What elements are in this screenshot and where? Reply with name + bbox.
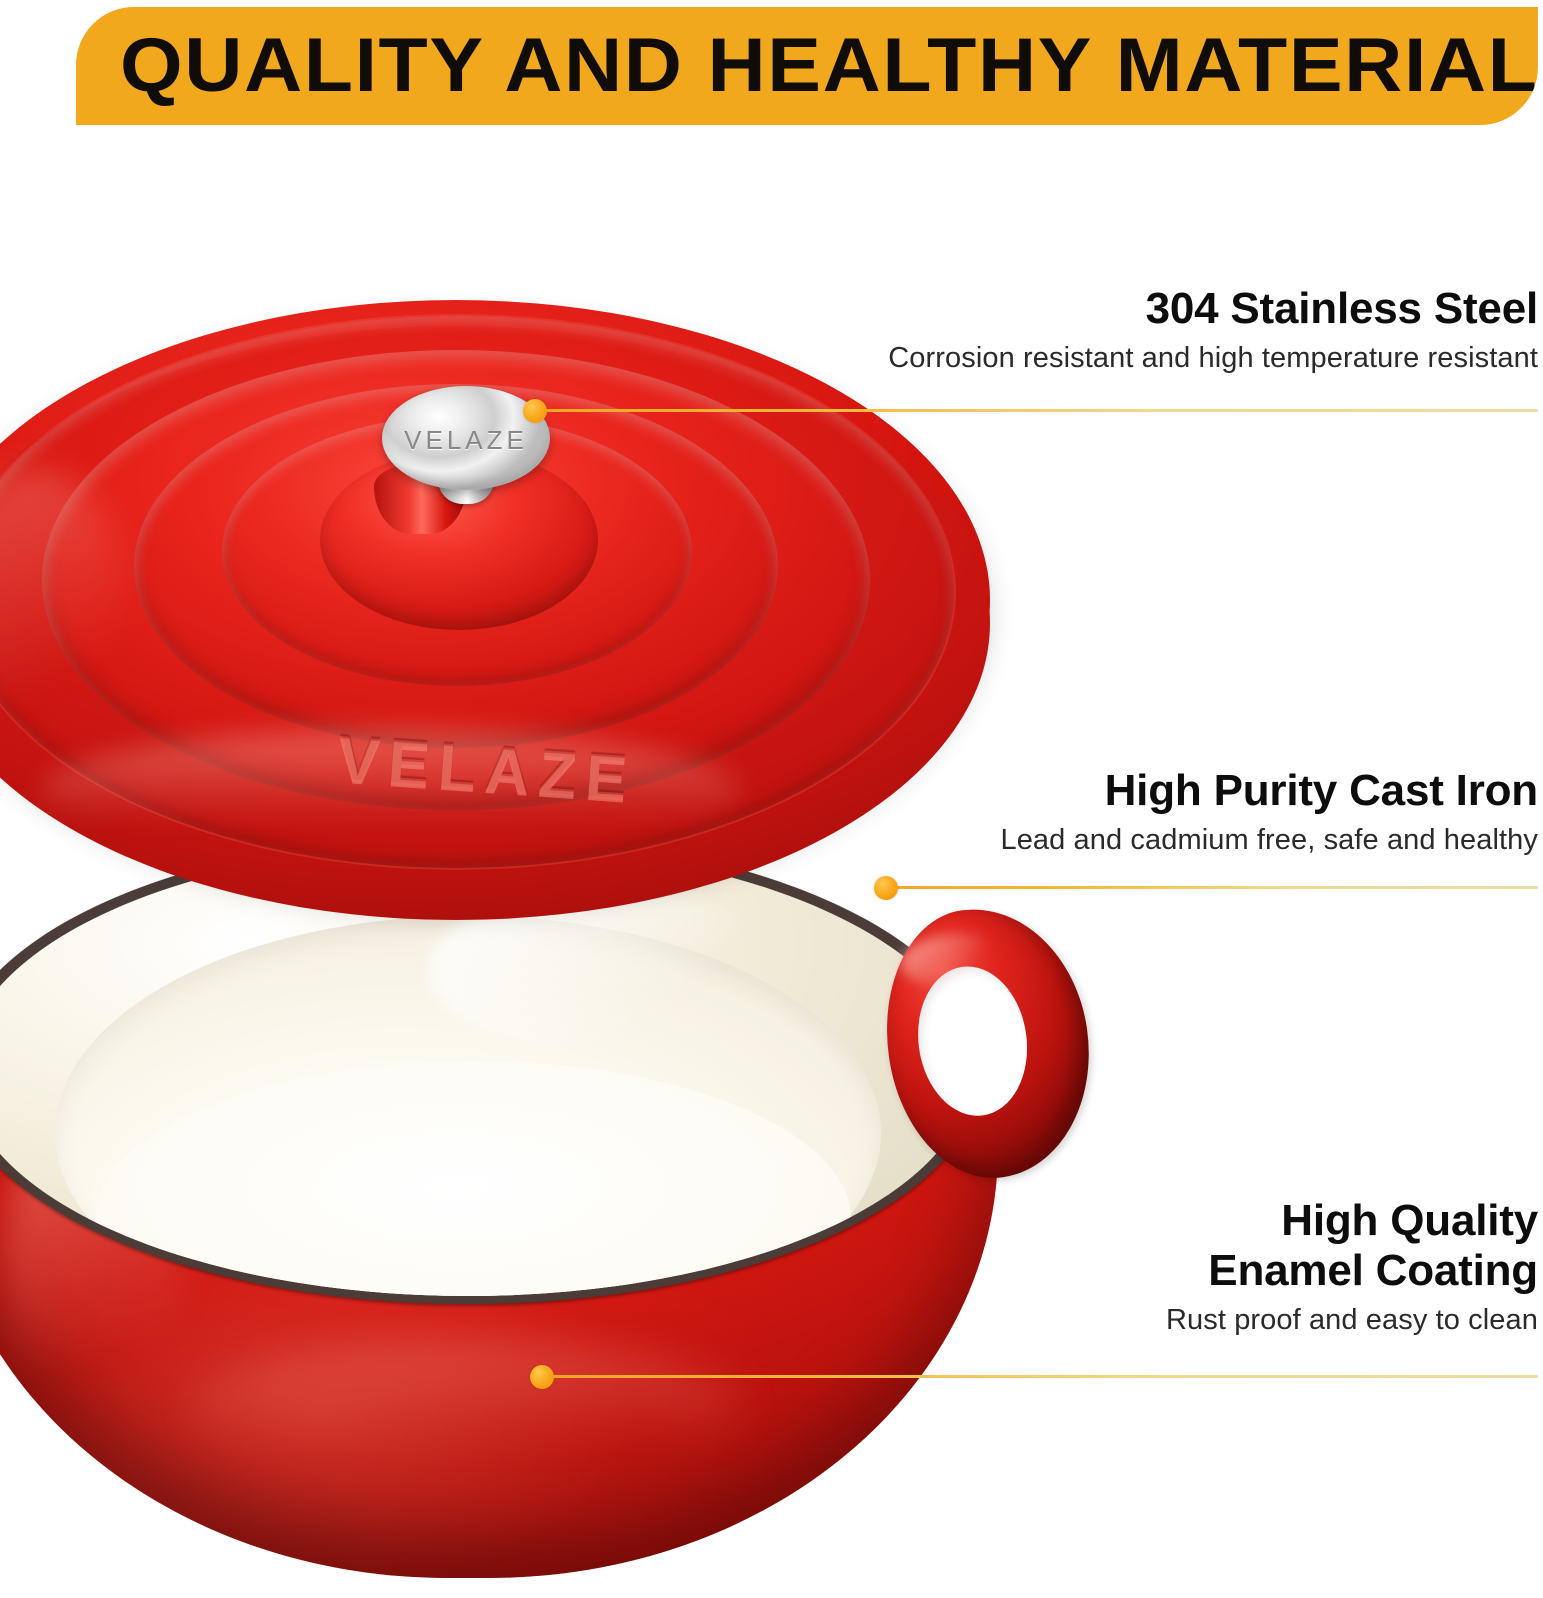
callout-enamel-coating-subtitle: Rust proof and easy to clean	[738, 1302, 1538, 1340]
callout-stainless-steel-title: 304 Stainless Steel	[778, 284, 1538, 334]
infographic-stage: QUALITY AND HEALTHY MATERIALS	[0, 0, 1543, 1500]
leader-dot-enamel-coating	[530, 1365, 554, 1389]
callout-cast-iron-title: High Purity Cast Iron	[818, 766, 1538, 816]
callout-stainless-steel-subtitle: Corrosion resistant and high temperature…	[778, 340, 1538, 378]
callout-enamel-coating: High Quality Enamel Coating Rust proof a…	[738, 1196, 1538, 1340]
leader-line-enamel-coating	[542, 1375, 1538, 1378]
lid-embossed-brand-text: VELAZE	[335, 722, 638, 816]
leader-line-cast-iron	[886, 886, 1538, 889]
leader-dot-cast-iron	[874, 876, 898, 900]
callout-enamel-coating-title-line2: Enamel Coating	[738, 1246, 1538, 1296]
pot-gloss-bottom	[192, 1340, 743, 1477]
callout-cast-iron: High Purity Cast Iron Lead and cadmium f…	[818, 766, 1538, 860]
knob-disc: VELAZE	[382, 386, 550, 490]
leader-dot-stainless-steel	[523, 399, 547, 423]
leader-line-stainless-steel	[534, 409, 1538, 412]
knob-brand-label: VELAZE	[404, 425, 528, 456]
callout-cast-iron-subtitle: Lead and cadmium free, safe and healthy	[818, 822, 1538, 860]
callout-enamel-coating-title-line1: High Quality	[738, 1196, 1538, 1246]
callout-stainless-steel: 304 Stainless Steel Corrosion resistant …	[778, 284, 1538, 378]
